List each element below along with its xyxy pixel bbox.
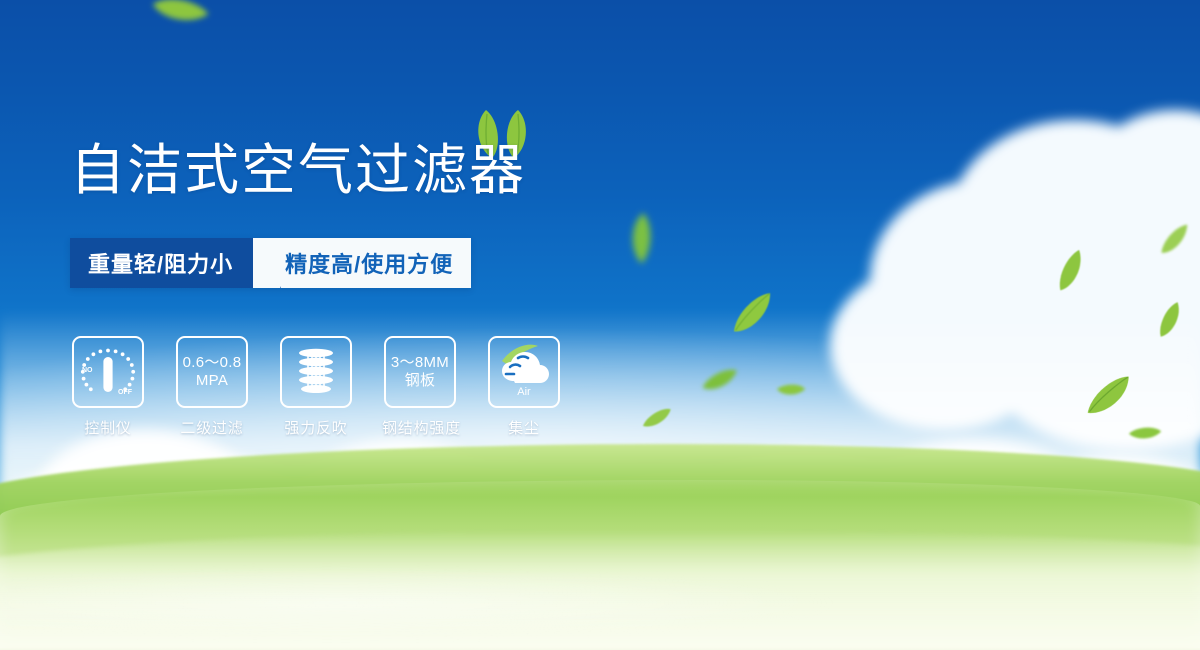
feature-item[interactable]: 3～8MM 钢板 钢结构强度 — [382, 336, 458, 438]
filter-cartridge-icon — [288, 344, 344, 400]
feature-icon-box — [280, 336, 352, 408]
gauge-no-label: NO — [82, 367, 93, 374]
feature-item[interactable]: Air 集尘 — [486, 336, 562, 438]
feature-item[interactable]: 强力反吹 — [278, 336, 354, 438]
pressure-line-2: MPA — [183, 372, 242, 390]
feature-icon-box: 0.6～0.8 MPA — [176, 336, 248, 408]
subtitle-badge-right: 精度高/使用方便 — [281, 238, 471, 288]
air-cloud-icon: Air — [494, 343, 554, 401]
feature-label: 钢结构强度 — [382, 417, 458, 438]
subtitle-badge-bar: 重量轻/阻力小 精度高/使用方便 — [70, 238, 471, 288]
banner-content: 自洁式空气过滤器 重量轻/阻力小 精度高/使用方便 — [0, 0, 1200, 650]
steel-line-1: 3～8MM — [391, 354, 449, 372]
pressure-line-1: 0.6～0.8 — [183, 354, 242, 372]
feature-item[interactable]: 0.6～0.8 MPA 二级过滤 — [174, 336, 250, 438]
product-hero-banner: 自洁式空气过滤器 重量轻/阻力小 精度高/使用方便 — [0, 0, 1200, 650]
feature-icon-box: NO OFF — [72, 336, 144, 408]
gauge-off-label: OFF — [118, 389, 133, 396]
subtitle-badge-divider — [253, 238, 281, 288]
steel-line-2: 钢板 — [391, 372, 449, 390]
air-label: Air — [517, 386, 531, 398]
page-title: 自洁式空气过滤器 — [70, 143, 526, 198]
feature-label: 集尘 — [486, 417, 562, 438]
pressure-text-icon: 0.6～0.8 MPA — [183, 354, 242, 390]
feature-icon-box: 3～8MM 钢板 — [384, 336, 456, 408]
subtitle-badge-left: 重量轻/阻力小 — [70, 238, 253, 288]
feature-list: NO OFF 控制仪 0.6～0.8 MPA 二级过滤 — [70, 336, 562, 438]
feature-label: 控制仪 — [70, 417, 146, 438]
feature-item[interactable]: NO OFF 控制仪 — [70, 336, 146, 438]
feature-label: 强力反吹 — [278, 417, 354, 438]
control-gauge-icon: NO OFF — [77, 344, 139, 400]
feature-label: 二级过滤 — [174, 417, 250, 438]
feature-icon-box: Air — [488, 336, 560, 408]
steel-plate-text-icon: 3～8MM 钢板 — [391, 354, 449, 390]
